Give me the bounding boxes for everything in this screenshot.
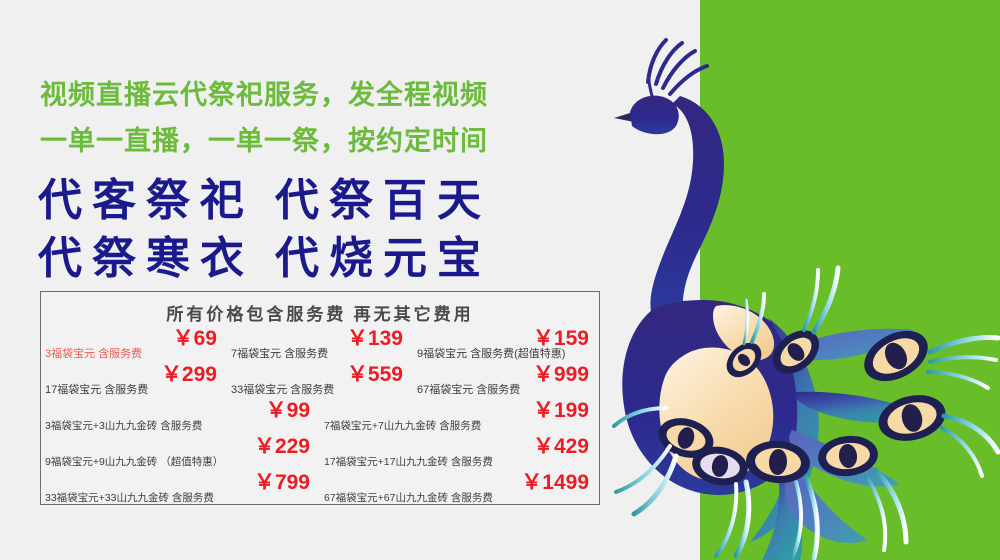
price-item-label: 9福袋宝元 含服务费(超值特惠) <box>417 348 566 361</box>
price-item[interactable]: ￥1599福袋宝元 含服务费(超值特惠) <box>413 329 599 365</box>
price-row: ￥693福袋宝元 含服务费￥1397福袋宝元 含服务费￥1599福袋宝元 含服务… <box>41 329 599 365</box>
price-item-label: 3福袋宝元+3山九九金砖 含服务费 <box>45 420 202 433</box>
price-item-label: 67福袋宝元+67山九九金砖 含服务费 <box>324 492 493 505</box>
price-item-label: 7福袋宝元 含服务费 <box>231 348 328 361</box>
price-item-label: 3福袋宝元 含服务费 <box>45 348 142 361</box>
price-item-label: 17福袋宝元+17山九九金砖 含服务费 <box>324 456 493 469</box>
price-amount: ￥199 <box>533 401 589 421</box>
price-amount: ￥139 <box>347 329 403 349</box>
headline-line-2: 一单一直播，一单一祭，按约定时间 <box>40 118 600 164</box>
price-amount: ￥229 <box>254 437 310 457</box>
price-item[interactable]: ￥149967福袋宝元+67山九九金砖 含服务费 <box>320 473 599 509</box>
price-row: ￥993福袋宝元+3山九九金砖 含服务费￥1997福袋宝元+7山九九金砖 含服务… <box>41 401 599 437</box>
price-item-label: 67福袋宝元 含服务费 <box>417 384 520 397</box>
price-amount: ￥159 <box>533 329 589 349</box>
price-item[interactable]: ￥2299福袋宝元+9山九九金砖 （超值特惠） <box>41 437 320 473</box>
price-item[interactable]: ￥55933福袋宝元 含服务费 <box>227 365 413 401</box>
headline-block: 视频直播云代祭祀服务，发全程视频 一单一直播，一单一祭，按约定时间 <box>40 72 600 164</box>
price-item[interactable]: ￥99967福袋宝元 含服务费 <box>413 365 599 401</box>
price-item[interactable]: ￥693福袋宝元 含服务费 <box>41 329 227 365</box>
price-row: ￥2299福袋宝元+9山九九金砖 （超值特惠）￥42917福袋宝元+17山九九金… <box>41 437 599 473</box>
slogan-line-1: 代客祭祀 代祭百天 <box>38 172 598 230</box>
price-item-label: 17福袋宝元 含服务费 <box>45 384 148 397</box>
slogan-block: 代客祭祀 代祭百天 代祭寒衣 代烧元宝 <box>38 172 598 288</box>
headline-line-1: 视频直播云代祭祀服务，发全程视频 <box>40 72 600 118</box>
price-amount: ￥69 <box>173 329 217 349</box>
price-amount: ￥999 <box>533 365 589 385</box>
price-card-title: 所有价格包含服务费 再无其它费用 <box>41 300 599 325</box>
price-item-label: 33福袋宝元+33山九九金砖 含服务费 <box>45 492 214 505</box>
price-item[interactable]: ￥42917福袋宝元+17山九九金砖 含服务费 <box>320 437 599 473</box>
slogan-line-2: 代祭寒衣 代烧元宝 <box>38 230 598 288</box>
green-background-panel <box>700 0 1000 560</box>
peacock-head <box>630 96 679 135</box>
price-amount: ￥1499 <box>521 473 589 493</box>
price-amount: ￥99 <box>266 401 310 421</box>
peacock-crest <box>648 40 707 96</box>
price-item[interactable]: ￥1997福袋宝元+7山九九金砖 含服务费 <box>320 401 599 437</box>
peacock-beak <box>614 108 646 124</box>
price-item-label: 7福袋宝元+7山九九金砖 含服务费 <box>324 420 481 433</box>
price-amount: ￥299 <box>161 365 217 385</box>
price-row-list: ￥693福袋宝元 含服务费￥1397福袋宝元 含服务费￥1599福袋宝元 含服务… <box>41 329 599 509</box>
price-item[interactable]: ￥29917福袋宝元 含服务费 <box>41 365 227 401</box>
price-item-label: 33福袋宝元 含服务费 <box>231 384 334 397</box>
price-item-label: 9福袋宝元+9山九九金砖 （超值特惠） <box>45 456 223 469</box>
price-item[interactable]: ￥993福袋宝元+3山九九金砖 含服务费 <box>41 401 320 437</box>
price-row: ￥79933福袋宝元+33山九九金砖 含服务费￥149967福袋宝元+67山九九… <box>41 473 599 509</box>
price-item[interactable]: ￥79933福袋宝元+33山九九金砖 含服务费 <box>41 473 320 509</box>
price-card: 所有价格包含服务费 再无其它费用 ￥693福袋宝元 含服务费￥1397福袋宝元 … <box>40 291 600 505</box>
price-amount: ￥559 <box>347 365 403 385</box>
price-item[interactable]: ￥1397福袋宝元 含服务费 <box>227 329 413 365</box>
price-row: ￥29917福袋宝元 含服务费￥55933福袋宝元 含服务费￥99967福袋宝元… <box>41 365 599 401</box>
price-amount: ￥429 <box>533 437 589 457</box>
poster-canvas: 视频直播云代祭祀服务，发全程视频 一单一直播，一单一祭，按约定时间 代客祭祀 代… <box>0 0 1000 560</box>
price-amount: ￥799 <box>254 473 310 493</box>
